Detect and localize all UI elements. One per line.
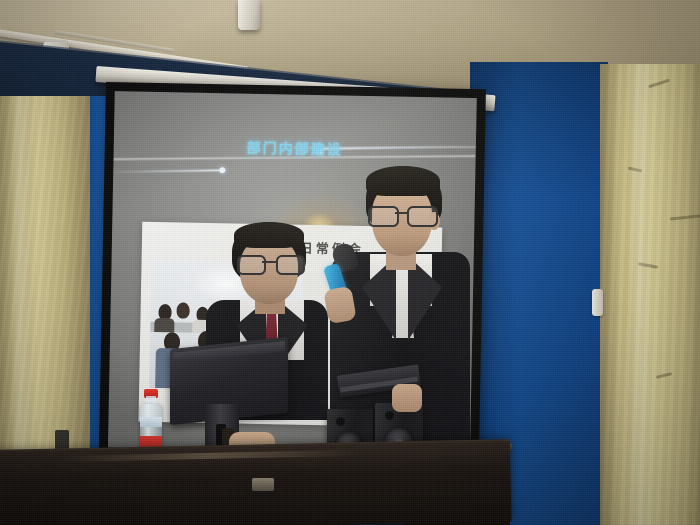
presenter-right-fringe	[366, 166, 440, 196]
presenter-left-glasses-icon	[237, 255, 301, 271]
podium-latch	[252, 478, 274, 491]
presenter-right-hand-holding-notebook	[392, 384, 422, 412]
tan-column-left-highlight	[10, 96, 30, 456]
water-bottle-label-upper	[140, 417, 162, 427]
slide-title: 部门内部建设	[200, 137, 390, 161]
photo-scene: 部门内部建设 日常例会	[0, 0, 700, 525]
cylinder-pendant-lamp-icon	[238, 0, 260, 30]
presenter-right-hand-holding-mic	[323, 286, 356, 324]
tan-column-right-highlight	[628, 64, 652, 525]
wall-outlet-plate	[592, 289, 603, 316]
title-rule-dot-left	[219, 167, 225, 173]
presenter-left-fringe	[234, 222, 304, 248]
wall-socket-left	[55, 430, 69, 450]
presenter-right-glasses-icon	[368, 206, 434, 223]
